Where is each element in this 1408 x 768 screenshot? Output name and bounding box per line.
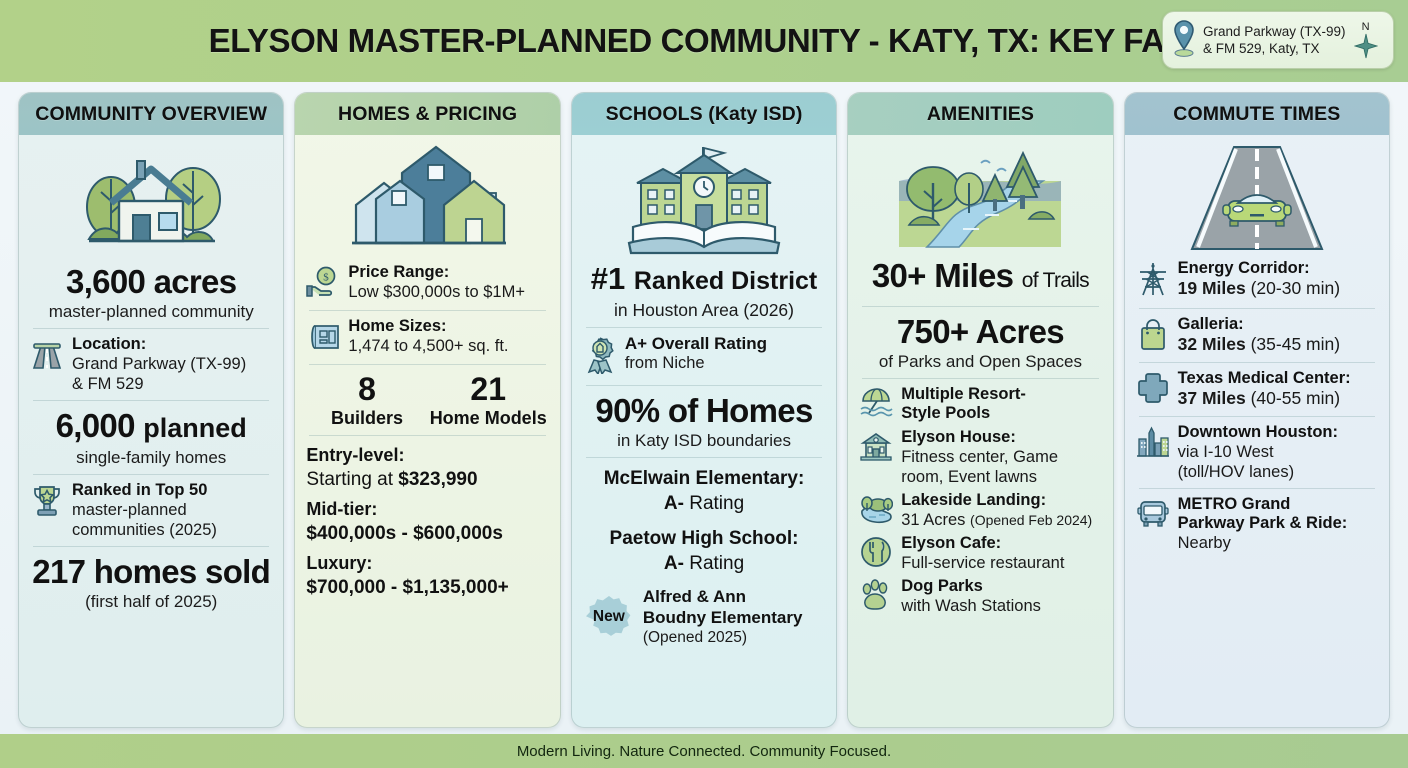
lakeside-landing-value: 31 Acres (Opened Feb 2024) [901, 510, 1101, 530]
divider [586, 327, 822, 328]
divider [1139, 416, 1375, 417]
planned-word: planned [143, 413, 247, 443]
divider [1139, 362, 1375, 363]
location-value-2: & FM 529 [72, 374, 272, 394]
new-badge: New [583, 594, 635, 640]
tier-luxury: Luxury: $700,000 - $1,135,000+ [306, 552, 548, 600]
svg-text:$: $ [324, 272, 330, 284]
divider [309, 364, 545, 365]
mid-tier-label: Mid-tier: [306, 498, 548, 521]
card-title-schools: SCHOOLS (Katy ISD) [572, 93, 836, 135]
stat-homes-sold-value: 217 homes sold [30, 553, 272, 591]
entry-level-price: $323,990 [398, 469, 477, 490]
location-text: Grand Parkway (TX-99) & FM 529, Katy, TX [1203, 23, 1346, 57]
galleria-label: Galleria: [1178, 315, 1378, 334]
price-range-value: Low $300,000s to $1M+ [348, 282, 548, 302]
beach-umbrella-icon [859, 385, 893, 424]
row-medical-center: Texas Medical Center: 37 Miles (40-55 mi… [1136, 369, 1378, 410]
row-elyson-cafe: Elyson Cafe: Full-service restaurant [859, 534, 1101, 573]
trophy-icon [30, 481, 64, 524]
bus-icon [1136, 495, 1170, 534]
compass-north-label: N [1362, 22, 1370, 33]
home-models-count: 21 [428, 371, 549, 407]
boudny-line-1: Alfred & Ann [643, 586, 825, 607]
mcelwain-name: McElwain Elementary: [583, 466, 825, 491]
katy-isd-homes-value: 90% of Homes [583, 392, 825, 430]
highway-icon [30, 335, 64, 376]
luxury-label: Luxury: [306, 552, 548, 575]
footer-band: Modern Living. Nature Connected. Communi… [0, 734, 1408, 768]
row-ranking: Ranked in Top 50 master-planned communit… [30, 481, 272, 540]
divider [862, 306, 1098, 307]
lakeside-acres: 31 Acres [901, 511, 965, 529]
energy-corridor-miles: 19 Miles [1178, 278, 1246, 298]
entry-level-prefix: Starting at [306, 469, 398, 490]
card-community-overview: COMMUNITY OVERVIEW [18, 92, 284, 728]
medical-center-time: (40-55 min) [1246, 388, 1340, 408]
stat-ranked-district: #1 Ranked District in Houston Area (2026… [583, 261, 825, 321]
boudny-opened: (Opened 2025) [643, 628, 825, 648]
card-title-amenities: AMENITIES [848, 93, 1112, 135]
card-commute-times: COMMUTE TIMES [1124, 92, 1390, 728]
elyson-house-label: Elyson House: [901, 428, 1101, 447]
row-pools: Multiple Resort- Style Pools [859, 385, 1101, 424]
divider [33, 546, 269, 547]
elyson-cafe-label: Elyson Cafe: [901, 534, 1101, 553]
galleria-time: (35-45 min) [1246, 334, 1340, 354]
card-schools: SCHOOLS (Katy ISD) [571, 92, 837, 728]
rank-number: #1 [591, 261, 625, 296]
location-line-1: Grand Parkway (TX-99) [1203, 24, 1346, 39]
footer-tagline: Modern Living. Nature Connected. Communi… [517, 743, 891, 760]
divider [1139, 488, 1375, 489]
lake-trees-icon [859, 491, 893, 530]
card-title-homes-pricing: HOMES & PRICING [295, 93, 559, 135]
fork-knife-icon [859, 534, 893, 573]
location-line-2: & FM 529, Katy, TX [1203, 41, 1320, 56]
house-with-trees-icon [30, 143, 272, 261]
row-lakeside-landing: Lakeside Landing: 31 Acres (Opened Feb 2… [859, 491, 1101, 530]
money-hand-icon: $ [306, 263, 340, 304]
divider [586, 385, 822, 386]
location-value-1: Grand Parkway (TX-99) [72, 354, 272, 374]
city-skyline-icon [1136, 423, 1170, 464]
stat-acreage-label: master-planned community [30, 301, 272, 322]
card-amenities: AMENITIES [847, 92, 1113, 728]
medical-center-miles: 37 Miles [1178, 388, 1246, 408]
energy-corridor-label: Energy Corridor: [1178, 259, 1378, 278]
park-acres-value: 750+ Acres [859, 313, 1101, 351]
row-elyson-house: Elyson House: Fitness center, Game room,… [859, 428, 1101, 487]
infographic-page: ELYSON MASTER-PLANNED COMMUNITY - KATY, … [0, 0, 1408, 768]
row-park-and-ride: METRO Grand Parkway Park & Ride: Nearby [1136, 495, 1378, 553]
lakeside-opened: (Opened Feb 2024) [970, 512, 1092, 528]
mid-tier-value: $400,000s - $600,000s [306, 521, 548, 546]
park-river-landscape-icon [859, 143, 1101, 253]
ranking-line-2: communities (2025) [72, 520, 272, 540]
elyson-cafe-value: Full-service restaurant [901, 553, 1101, 573]
trail-miles-value: 30+ Miles of Trails [859, 257, 1101, 300]
stat-katy-isd-homes: 90% of Homes in Katy ISD boundaries [583, 392, 825, 451]
divider [309, 435, 545, 436]
stat-planned-homes-label: single-family homes [30, 447, 272, 468]
park-and-ride-line-1: METRO Grand [1178, 495, 1378, 514]
road-car-icon [1136, 143, 1378, 255]
card-title-community-overview: COMMUNITY OVERVIEW [19, 93, 283, 135]
stat-trail-miles: 30+ Miles of Trails [859, 257, 1101, 300]
downtown-houston-label: Downtown Houston: [1178, 423, 1378, 442]
row-dog-parks: Dog Parks with Wash Stations [859, 577, 1101, 616]
paetow-grade: A- [664, 553, 684, 574]
trail-miles-word: of Trails [1022, 269, 1089, 292]
paw-print-icon [859, 577, 893, 616]
row-galleria: Galleria: 32 Miles (35-45 min) [1136, 315, 1378, 356]
niche-rating-label: A+ Overall Rating [625, 334, 825, 353]
divider [862, 378, 1098, 379]
new-badge-label: New [593, 608, 625, 626]
card-title-commute-times: COMMUTE TIMES [1125, 93, 1389, 135]
builders-count: 8 [306, 371, 427, 407]
luxury-value: $700,000 - $1,135,000+ [306, 575, 548, 600]
price-range-label: Price Range: [348, 263, 548, 282]
stat-homes-sold-label: (first half of 2025) [30, 591, 272, 612]
park-and-ride-line-2: Parkway Park & Ride: [1178, 514, 1378, 533]
energy-corridor-value: 19 Miles (20-30 min) [1178, 278, 1378, 298]
ranked-district-value: #1 Ranked District [583, 261, 825, 299]
clubhouse-icon [859, 428, 893, 467]
stat-park-acres: 750+ Acres of Parks and Open Spaces [859, 313, 1101, 372]
ranking-label: Ranked in Top 50 [72, 481, 272, 500]
ranked-district-sub: in Houston Area (2026) [583, 299, 825, 321]
stat-planned-homes-value: 6,000 planned [30, 407, 272, 447]
counters: 8 Builders 21 Home Models [306, 371, 548, 429]
entry-level-value: Starting at $323,990 [306, 467, 548, 492]
compass-star-icon [1354, 33, 1378, 59]
medical-cross-icon [1136, 369, 1170, 410]
mcelwain-rating-word: Rating [684, 493, 744, 514]
energy-corridor-time: (20-30 min) [1246, 278, 1340, 298]
row-energy-corridor: Energy Corridor: 19 Miles (20-30 min) [1136, 259, 1378, 302]
tier-entry-level: Entry-level: Starting at $323,990 [306, 444, 548, 492]
school-boudny: New Alfred & Ann Boudny Elementary (Open… [583, 586, 825, 648]
downtown-houston-line-1: via I-10 West [1178, 442, 1378, 462]
counter-builders: 8 Builders [306, 371, 427, 429]
paetow-name: Paetow High School: [583, 526, 825, 551]
planned-number: 6,000 [56, 407, 135, 444]
elyson-house-line-2: room, Event lawns [901, 467, 1101, 487]
power-pylon-icon [1136, 259, 1170, 302]
divider [586, 457, 822, 458]
stat-planned-homes: 6,000 planned single-family homes [30, 407, 272, 468]
stat-homes-sold: 217 homes sold (first half of 2025) [30, 553, 272, 612]
stat-acreage: 3,600 acres master-planned community [30, 263, 272, 322]
three-houses-icon [306, 143, 548, 259]
trail-miles-number: 30+ Miles [872, 257, 1013, 294]
row-downtown-houston: Downtown Houston: via I-10 West (toll/HO… [1136, 423, 1378, 482]
home-sizes-label: Home Sizes: [348, 317, 548, 336]
mcelwain-grade: A- [664, 493, 684, 514]
blueprint-icon [306, 317, 340, 358]
medical-center-label: Texas Medical Center: [1178, 369, 1378, 388]
pools-line-2: Style Pools [901, 404, 1101, 423]
card-homes-pricing: HOMES & PRICING [294, 92, 560, 728]
divider [33, 400, 269, 401]
niche-rating-value: from Niche [625, 353, 825, 373]
builders-label: Builders [306, 407, 427, 429]
mcelwain-rating: A- Rating [583, 491, 825, 516]
paetow-rating-word: Rating [684, 553, 744, 574]
medical-center-value: 37 Miles (40-55 min) [1178, 388, 1378, 408]
stat-acreage-value: 3,600 acres [30, 263, 272, 301]
school-mcelwain: McElwain Elementary: A- Rating [583, 466, 825, 516]
galleria-value: 32 Miles (35-45 min) [1178, 334, 1378, 354]
counter-home-models: 21 Home Models [428, 371, 549, 429]
tier-mid: Mid-tier: $400,000s - $600,000s [306, 498, 548, 546]
schoolhouse-book-icon [583, 143, 825, 259]
park-acres-label: of Parks and Open Spaces [859, 351, 1101, 372]
boudny-line-2: Boudny Elementary [643, 607, 825, 628]
entry-level-label: Entry-level: [306, 444, 548, 467]
school-paetow: Paetow High School: A- Rating [583, 526, 825, 576]
shopping-bag-icon [1136, 315, 1170, 356]
location-badge: Grand Parkway (TX-99) & FM 529, Katy, TX… [1162, 11, 1394, 69]
paetow-rating: A- Rating [583, 551, 825, 576]
row-price-range: $ Price Range: Low $300,000s to $1M+ [306, 263, 548, 304]
row-home-sizes: Home Sizes: 1,474 to 4,500+ sq. ft. [306, 317, 548, 358]
pools-line-1: Multiple Resort- [901, 385, 1101, 404]
location-label: Location: [72, 335, 272, 354]
compass: N [1354, 22, 1378, 59]
home-sizes-value: 1,474 to 4,500+ sq. ft. [348, 336, 548, 356]
header-band: ELYSON MASTER-PLANNED COMMUNITY - KATY, … [0, 0, 1408, 82]
divider [33, 474, 269, 475]
cards-row: COMMUNITY OVERVIEW [0, 82, 1408, 734]
galleria-miles: 32 Miles [1178, 334, 1246, 354]
row-niche-rating: A+ Overall Rating from Niche [583, 334, 825, 379]
divider [33, 328, 269, 329]
home-models-label: Home Models [428, 407, 549, 429]
lakeside-landing-label: Lakeside Landing: [901, 491, 1101, 510]
rank-words: Ranked District [634, 267, 817, 295]
downtown-houston-line-2: (toll/HOV lanes) [1178, 462, 1378, 482]
ranking-line-1: master-planned [72, 500, 272, 520]
map-pin-icon [1171, 18, 1197, 63]
park-and-ride-value: Nearby [1178, 533, 1378, 553]
dog-parks-label: Dog Parks [901, 577, 1101, 596]
divider [1139, 308, 1375, 309]
award-ribbon-icon [583, 334, 617, 379]
katy-isd-homes-label: in Katy ISD boundaries [583, 430, 825, 451]
elyson-house-line-1: Fitness center, Game [901, 447, 1101, 467]
dog-parks-value: with Wash Stations [901, 596, 1101, 616]
row-location: Location: Grand Parkway (TX-99) & FM 529 [30, 335, 272, 394]
divider [309, 310, 545, 311]
